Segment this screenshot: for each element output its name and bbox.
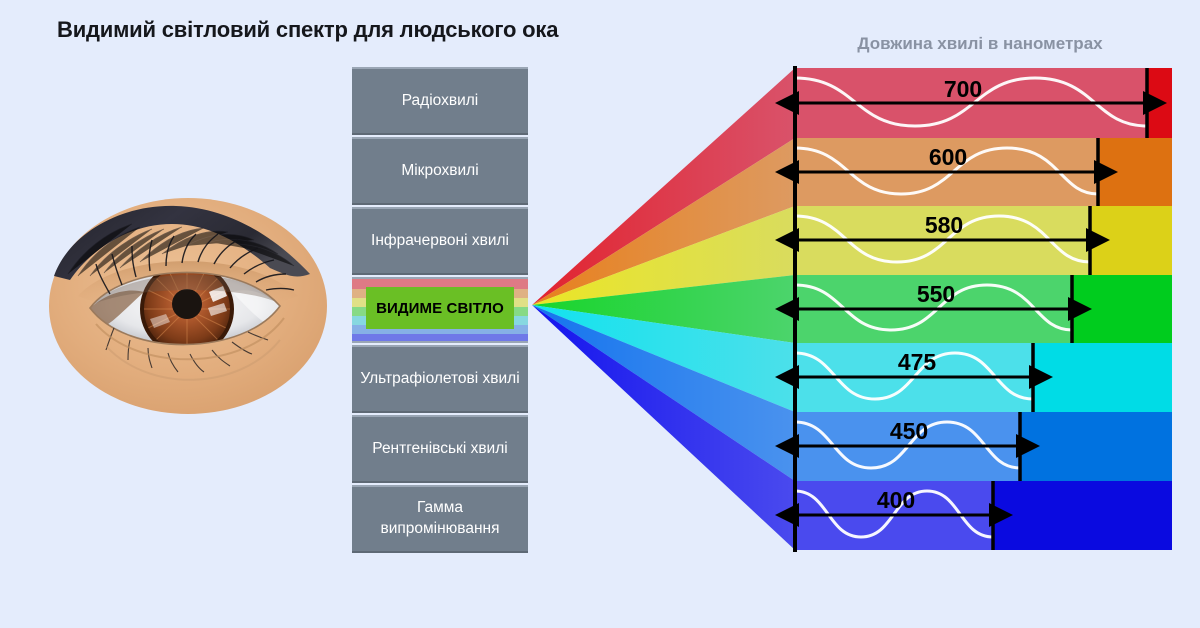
row-solid-band xyxy=(1072,275,1172,343)
wavelength-value-700: 700 xyxy=(913,76,1013,103)
spectrum-beam-and-bars xyxy=(0,0,1200,628)
wavelength-value-400: 400 xyxy=(846,487,946,514)
row-solid-band xyxy=(1090,206,1172,275)
wavelength-value-580: 580 xyxy=(894,212,994,239)
row-solid-band xyxy=(1020,412,1172,481)
light-beam-cone xyxy=(532,68,795,550)
row-solid-band xyxy=(1098,138,1172,206)
row-solid-band xyxy=(993,481,1172,550)
wavelength-value-550: 550 xyxy=(886,281,986,308)
wavelength-row-450 xyxy=(795,412,1172,481)
wavelength-value-475: 475 xyxy=(867,349,967,376)
row-solid-band xyxy=(1147,68,1172,138)
wavelength-value-600: 600 xyxy=(898,144,998,171)
wavelength-row-475 xyxy=(795,343,1172,412)
wavelength-value-450: 450 xyxy=(859,418,959,445)
row-solid-band xyxy=(1033,343,1172,412)
